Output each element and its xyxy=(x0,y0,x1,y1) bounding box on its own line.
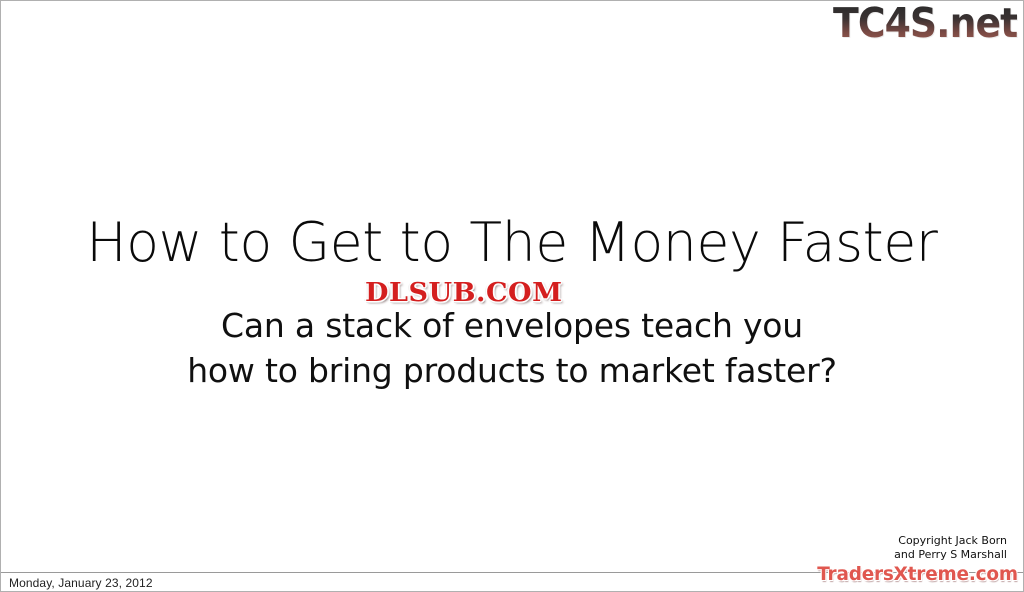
slide-title: How to Get to The Money Faster xyxy=(6,214,1018,272)
presentation-slide: TC4S.net How to Get to The Money Faster … xyxy=(0,0,1024,592)
subtitle-line-1: Can a stack of envelopes teach you xyxy=(1,304,1023,349)
tradersxtreme-watermark: TradersXtreme.com xyxy=(817,564,1018,585)
footer-date: Monday, January 23, 2012 xyxy=(9,576,153,592)
slide-subtitle: Can a stack of envelopes teach you how t… xyxy=(1,304,1023,394)
copyright-line-1: Copyright Jack Born xyxy=(894,534,1007,548)
subtitle-line-2: how to bring products to market faster? xyxy=(1,349,1023,394)
copyright-block: Copyright Jack Born and Perry S Marshall xyxy=(894,534,1007,563)
tc4s-watermark: TC4S.net xyxy=(833,3,1017,44)
copyright-line-2: and Perry S Marshall xyxy=(894,548,1007,562)
dlsub-watermark: DLSUB.COM xyxy=(365,279,563,307)
